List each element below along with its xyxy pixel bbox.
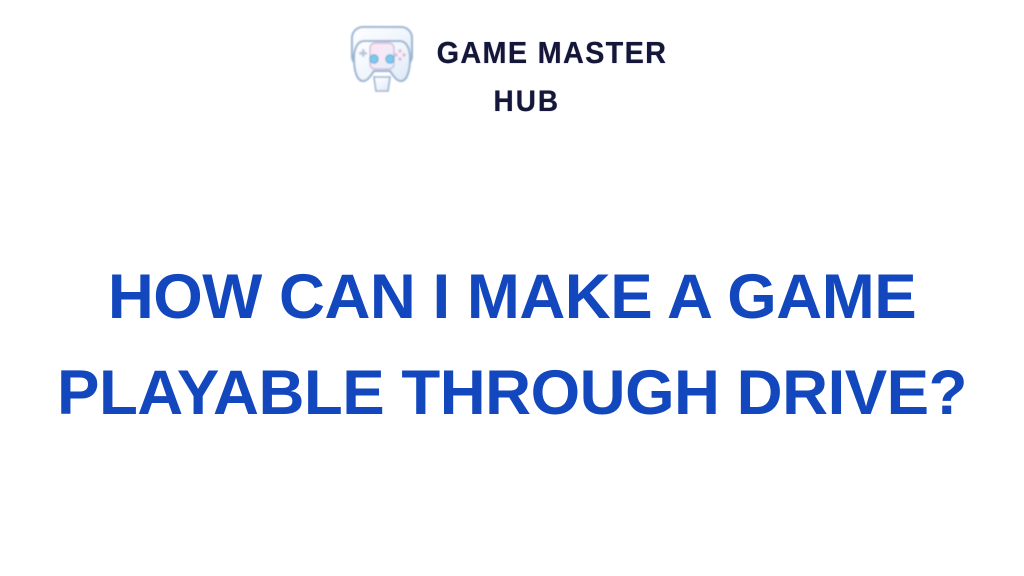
page-title: HOW CAN I MAKE A GAME PLAYABLE THROUGH D… [0, 249, 1024, 441]
brand-name-line1: GAME MASTER [437, 37, 668, 68]
gamepad-icon [348, 21, 416, 99]
page-title-line-2: PLAYABLE THROUGH DRIVE? [0, 345, 1024, 441]
brand-logo[interactable]: GAME MASTER HUB [0, 28, 1024, 124]
brand-wordmark: GAME MASTER [428, 37, 676, 68]
page-title-line-1: HOW CAN I MAKE A GAME [0, 249, 1024, 345]
brand-name-line2: HUB [494, 85, 561, 119]
page-root: GAME MASTER HUB HOW CAN I MAKE A GAME PL… [0, 0, 1024, 576]
brand-row: GAME MASTER [348, 28, 676, 76]
brand-line2-wrap: HUB [0, 76, 1024, 119]
